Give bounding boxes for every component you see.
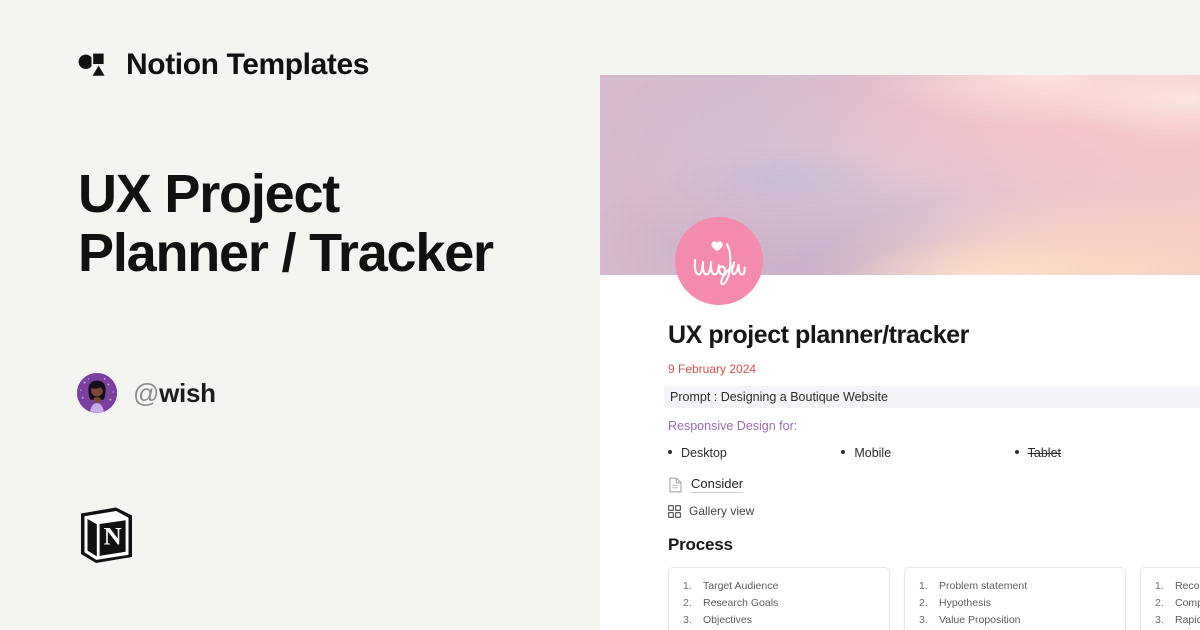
gallery-card[interactable]: Recognize Competitive Rapid Sketch [1140,567,1200,630]
list-item: Tablet [1015,446,1188,460]
process-card-gallery: Target Audience Research Goals Objective… [668,567,1200,630]
responsive-label: Responsive Design for: [668,419,1200,433]
author-handle: @wish [133,378,216,409]
list-item: Problem statement [917,578,1113,595]
gallery-card[interactable]: Target Audience Research Goals Objective… [668,567,890,630]
avatar [76,372,118,414]
device-label: Desktop [681,446,727,460]
doc-title: UX project planner/tracker [668,321,1200,350]
list-item: Value Proposition [917,612,1113,629]
gallery-grid-icon [668,505,681,518]
author-row[interactable]: @wish [76,372,216,414]
list-item: Objectives [681,612,877,629]
page-title: UX Project Planner / Tracker [78,165,498,283]
list-item: Desktop [668,446,841,460]
notion-page-preview[interactable]: UX project planner/tracker 9 February 20… [600,75,1200,630]
bullet-dot-icon [1015,450,1019,454]
gallery-card[interactable]: Problem statement Hypothesis Value Propo… [904,567,1126,630]
left-panel: Notion Templates UX Project Planner / Tr… [0,0,600,630]
view-label: Gallery view [689,504,754,518]
gallery-view-tab[interactable]: Gallery view [668,504,1200,518]
section-heading-process: Process [668,535,1200,555]
template-promo-card: Notion Templates UX Project Planner / Tr… [0,0,1200,630]
brand-header: Notion Templates [78,48,369,82]
page-link-consider[interactable]: Consider [668,476,1200,493]
list-item: Research Goals [681,595,877,612]
bullet-dot-icon [668,450,672,454]
document-body: UX project planner/tracker 9 February 20… [600,321,1200,630]
shapes-icon [78,48,112,82]
list-item: Mobile [841,446,1014,460]
author-name: wish [159,378,216,408]
document-icon [668,477,683,493]
device-label: Tablet [1028,446,1061,460]
notion-logo: N [76,503,136,567]
list-item: Recognize [1153,578,1200,595]
link-label: Consider [691,476,743,493]
list-item: Rapid Sketch [1153,612,1200,629]
list-item: Hypothesis [917,595,1113,612]
prompt-callout: Prompt : Designing a Boutique Website [664,386,1200,408]
list-item: Competitive [1153,595,1200,612]
device-label: Mobile [854,446,891,460]
brand-title: Notion Templates [126,48,369,82]
doc-date: 9 February 2024 [668,362,1200,376]
at-symbol: @ [133,378,159,408]
bullet-dot-icon [841,450,845,454]
device-bullet-list: Desktop Mobile Tablet [668,446,1188,460]
list-item: Target Audience [681,578,877,595]
wish-logo-icon [675,217,763,305]
svg-text:N: N [104,524,122,551]
